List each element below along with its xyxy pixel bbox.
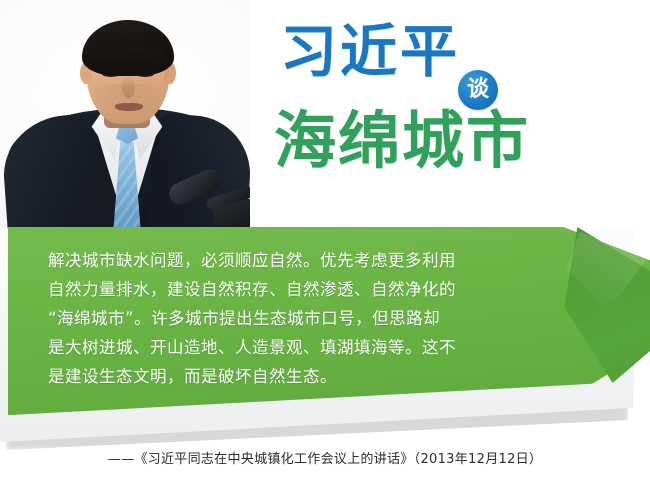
quote-line: “海绵城市”。许多城市提出生态城市口号，但思路却 <box>48 304 578 333</box>
mouth <box>115 103 143 111</box>
source-attribution: ——《习近平同志在中央城镇化工作会议上的讲话》（2013年12月12日） <box>0 448 650 467</box>
poster-title: 习近平 谈 海绵城市 <box>262 18 650 208</box>
quote-line: 自然力量排水，建设自然积存、自然渗透、自然净化的 <box>48 275 578 304</box>
poster-canvas: 习近平 谈 海绵城市 解决城市缺水问题，必须顺应自然。优先考虑更多利用 自然力量… <box>0 0 650 482</box>
quote-line: 是建设生态文明，而是破坏自然生态。 <box>48 362 578 391</box>
speaker-photo <box>0 0 250 232</box>
quote-line: 是大树进城、开山造地、人造景观、填湖填海等。这不 <box>48 333 578 362</box>
title-primary: 习近平 <box>280 24 460 81</box>
quote-text: 解决城市缺水问题，必须顺应自然。优先考虑更多利用 自然力量排水，建设自然积存、自… <box>48 246 578 391</box>
nose <box>122 78 135 98</box>
title-subject: 海绵城市 <box>274 110 530 172</box>
quote-line: 解决城市缺水问题，必须顺应自然。优先考虑更多利用 <box>48 246 578 275</box>
